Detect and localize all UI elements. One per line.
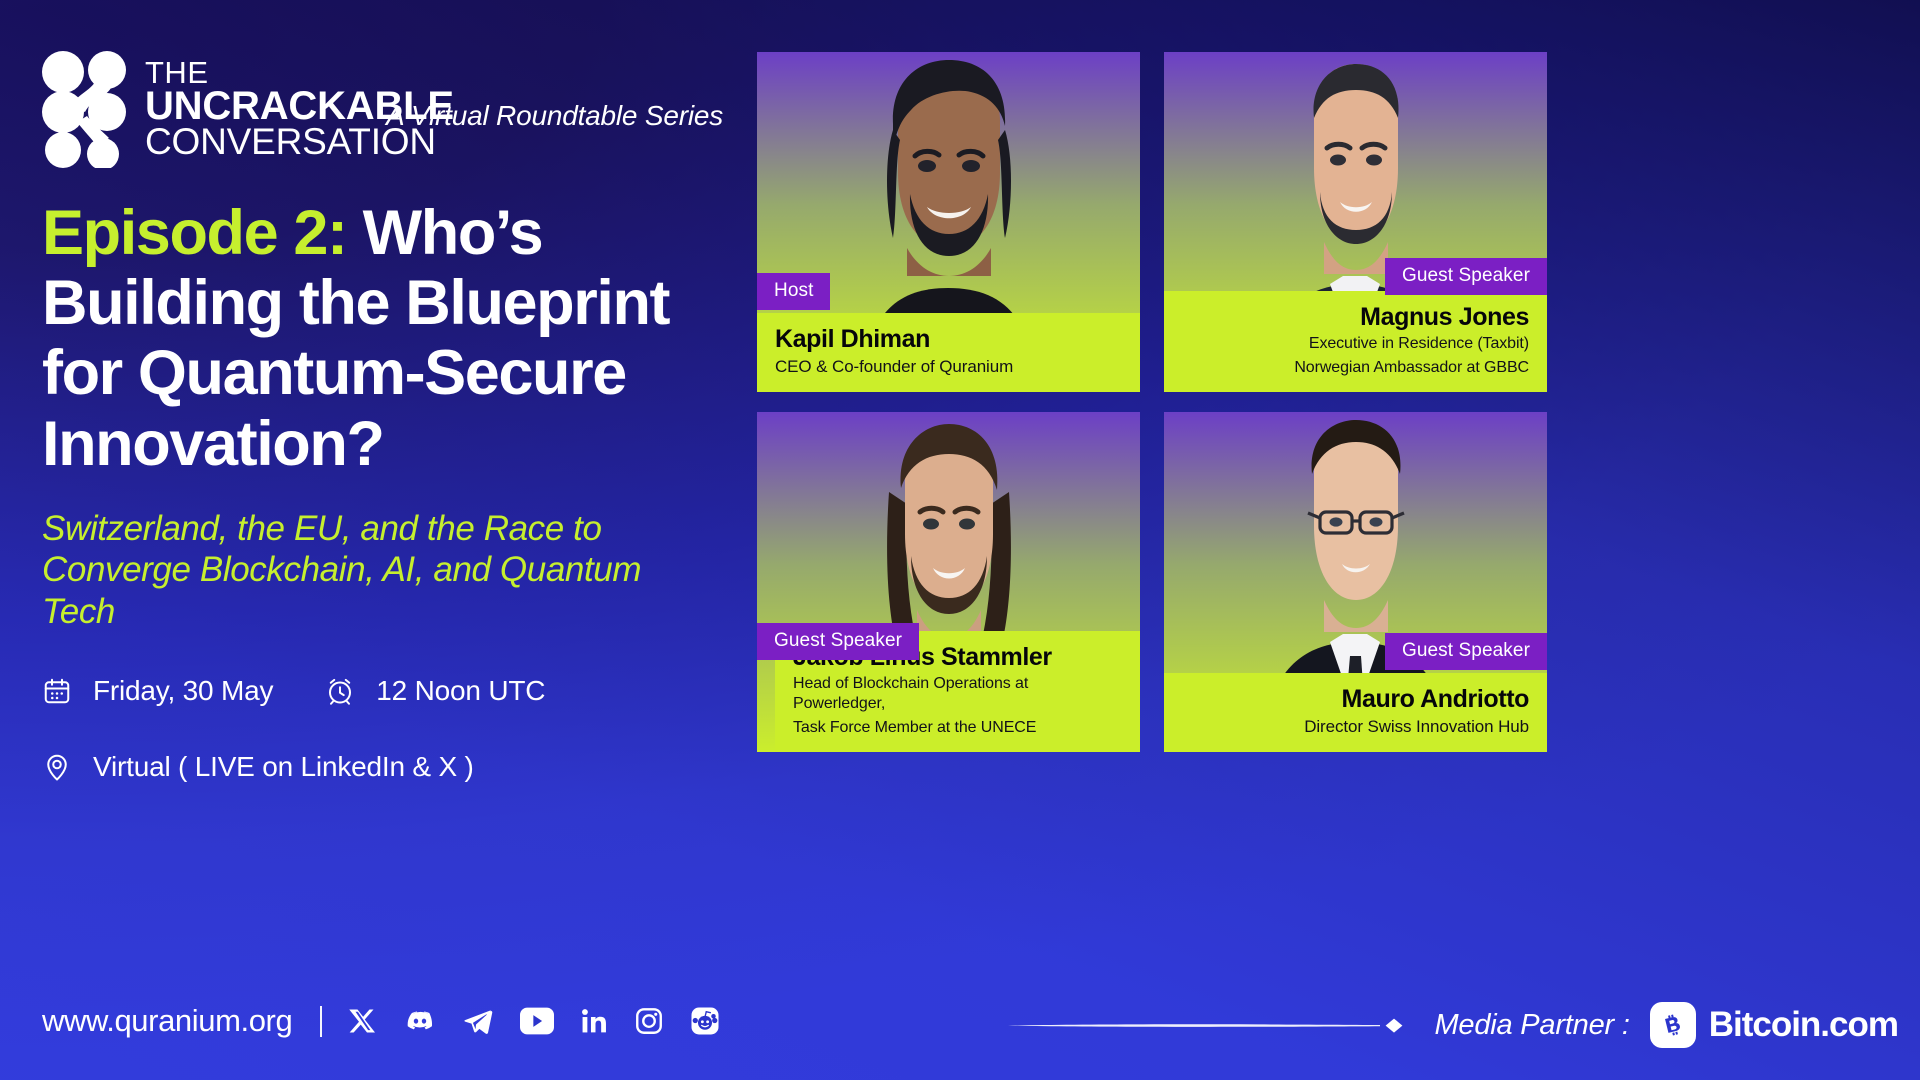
discord-icon[interactable] (404, 1006, 436, 1036)
telegram-icon[interactable] (462, 1006, 494, 1036)
speaker-name-plate: Mauro Andriotto Director Swiss Innovatio… (1164, 673, 1547, 752)
bitcoin-com-logo[interactable]: Bitcoin.com (1650, 1002, 1898, 1048)
speaker-name-plate: Magnus Jones Executive in Residence (Tax… (1164, 291, 1547, 392)
event-meta: Friday, 30 May 12 Noon UTC Virtual ( LIV… (42, 668, 545, 790)
brushstroke-divider (1008, 1015, 1408, 1035)
x-twitter-icon[interactable] (348, 1006, 378, 1036)
bitcoin-com-name: Bitcoin.com (1709, 1005, 1898, 1045)
meta-row-date-time: Friday, 30 May 12 Noon UTC (42, 668, 545, 714)
meta-row-location: Virtual ( LIVE on LinkedIn & X ) (42, 744, 545, 790)
page-title: Episode 2: Who’s Building the Blueprint … (42, 198, 742, 479)
speaker-role-badge: Host (757, 273, 830, 310)
alarm-clock-icon (325, 676, 355, 706)
speaker-card[interactable]: Guest Speaker Magnus Jones Executive in … (1164, 52, 1547, 392)
speaker-card[interactable]: Host Kapil Dhiman CEO & Co-founder of Qu… (757, 52, 1140, 392)
reddit-icon[interactable] (690, 1006, 720, 1036)
bitcoin-icon (1650, 1002, 1696, 1048)
subtitle: Switzerland, the EU, and the Race to Con… (42, 508, 662, 632)
speaker-role-badge: Guest Speaker (757, 623, 919, 660)
calendar-icon (42, 676, 72, 706)
speaker-card[interactable]: Guest Speaker Jakob Linus Stammler Head … (757, 412, 1140, 752)
series-tagline: A Virtual Roundtable Series (386, 100, 723, 132)
website-link[interactable]: www.quranium.org (42, 1003, 292, 1039)
social-links (348, 1006, 720, 1036)
meta-date-text: Friday, 30 May (93, 675, 273, 707)
molecule-dots-icon (41, 50, 129, 168)
left-content-column: THE UNCRACKABLE CONVERSATION A Virtual R… (0, 0, 760, 1080)
media-partner-block: Media Partner : Bitcoin.com (1008, 1002, 1898, 1048)
meta-location-text: Virtual ( LIVE on LinkedIn & X ) (93, 751, 474, 783)
speaker-role-badge: Guest Speaker (1385, 633, 1547, 670)
speaker-name: Magnus Jones (1182, 304, 1529, 331)
youtube-icon[interactable] (520, 1006, 554, 1036)
footer-bar: www.quranium.org (42, 1003, 720, 1039)
meta-time: 12 Noon UTC (325, 675, 545, 707)
speaker-role-badge: Guest Speaker (1385, 258, 1547, 295)
speaker-card[interactable]: Guest Speaker Mauro Andriotto Director S… (1164, 412, 1547, 752)
media-partner-label: Media Partner : (1434, 1009, 1629, 1042)
map-pin-icon (42, 752, 72, 782)
episode-label: Episode 2: (42, 198, 347, 268)
speaker-role-line: Norwegian Ambassador at GBBC (1182, 358, 1529, 378)
speaker-role-line: Task Force Member at the UNECE (793, 718, 1122, 738)
speaker-role-line: Director Swiss Innovation Hub (1182, 716, 1529, 738)
speaker-name: Mauro Andriotto (1182, 686, 1529, 713)
speaker-grid: Host Kapil Dhiman CEO & Co-founder of Qu… (757, 52, 1897, 790)
meta-time-text: 12 Noon UTC (376, 675, 545, 707)
meta-date: Friday, 30 May (42, 675, 273, 707)
speaker-role-line: Head of Blockchain Operations at Powerle… (793, 674, 1122, 715)
meta-location: Virtual ( LIVE on LinkedIn & X ) (42, 751, 474, 783)
linkedin-icon[interactable] (580, 1006, 608, 1036)
speaker-name: Kapil Dhiman (775, 326, 1122, 353)
footer-divider (320, 1006, 322, 1037)
speaker-name-plate: Kapil Dhiman CEO & Co-founder of Quraniu… (757, 313, 1140, 392)
speaker-role-line: CEO & Co-founder of Quranium (775, 356, 1122, 378)
speaker-role-line: Executive in Residence (Taxbit) (1182, 334, 1529, 354)
instagram-icon[interactable] (634, 1006, 664, 1036)
